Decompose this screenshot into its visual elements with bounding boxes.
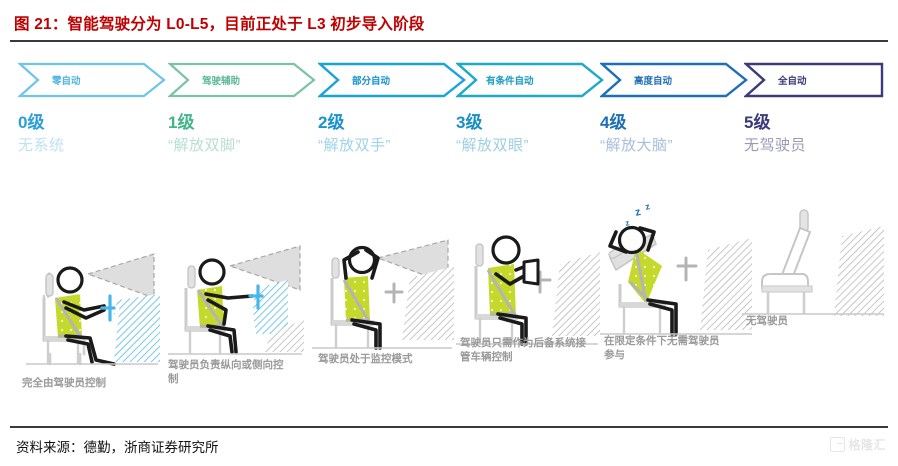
level-number-4: 4级 [600,113,673,133]
figure-caption-0: 完全由驾驶员控制 [22,376,154,390]
figure-empty-seat [738,206,888,331]
stage-chevron-0[interactable]: 零自动 [18,62,166,98]
level-number-1: 1级 [168,113,241,133]
figure-page: 图 21：智能驾驶分为 L0-L5，目前正处于 L3 初步导入阶段 零自动 驾驶… [0,0,898,466]
level-subtitle-1: “解放双脚” [168,135,241,157]
source-note: 资料来源：德勤，浙商证券研究所 [16,436,219,456]
stage-chevron-label-3: 有条件自动 [486,73,534,87]
level-number-5: 5级 [744,113,806,133]
level-subtitle-4: “解放大脑” [600,135,673,157]
stage-chevron-5[interactable]: 全自动 [744,62,884,98]
figure-caption-2: 驾驶员处于监控模式 [318,352,458,366]
stage-chevron-1[interactable]: 驾驶辅助 [168,62,316,98]
figure-driver-hands-behind-head [306,224,456,359]
watermark-text: 格隆汇 [848,436,886,453]
logo-mark-icon [830,437,845,452]
stage-level-4: 4级 “解放大脑” [600,113,673,157]
stage-chevron-label-5: 全自动 [778,73,807,87]
stage-level-3: 3级 “解放双眼” [456,113,529,157]
level-subtitle-2: “解放双手” [318,135,391,157]
stage-chevron-4[interactable]: 高度自动 [600,62,748,98]
stage-level-2: 2级 “解放双手” [318,113,391,157]
level-subtitle-0: 无系统 [18,135,65,157]
figure-driver-one-hand-wheel [166,232,306,362]
level-subtitle-5: 无驾驶员 [744,135,806,157]
level-number-3: 3级 [456,113,529,133]
stage-chevron-3[interactable]: 有条件自动 [456,62,604,98]
watermark: 格隆汇 [830,436,886,453]
page-title: 图 21：智能驾驶分为 L0-L5，目前正处于 L3 初步导入阶段 [14,12,425,34]
figure-caption-3: 驾驶员只需作为后备系统接管车辆控制 [460,336,588,364]
stage-level-5: 5级 无驾驶员 [744,113,806,157]
svg-text:z: z [634,206,643,219]
stage-chevron-label-4: 高度自动 [634,73,672,87]
stage-banner-row: 零自动 驾驶辅助 部分自动 有条件自动 [0,62,898,108]
stage-chevron-label-1: 驾驶辅助 [202,73,240,87]
stage-chevron-label-0: 零自动 [52,73,81,87]
header-divider [10,40,888,42]
level-number-0: 0级 [18,113,65,133]
figure-caption-5: 无驾驶员 [746,314,856,328]
figure-caption-1: 驾驶员负责纵向或侧向控制 [168,358,290,386]
level-subtitle-3: “解放双眼” [456,135,529,157]
stage-level-0: 0级 无系统 [18,113,65,157]
figure-driver-hands-on-wheel [22,236,162,371]
figure-driver-sleeping-reclined: z z z [596,200,756,350]
stage-level-1: 1级 “解放双脚” [168,113,241,157]
level-number-2: 2级 [318,113,391,133]
stage-chevron-label-2: 部分自动 [352,73,390,87]
footer-divider [10,426,888,428]
figure-caption-4: 在限定条件下无需驾驶员参与 [604,334,726,362]
figure-driver-reading-tablet [452,216,602,356]
svg-text:z: z [644,201,651,212]
stage-chevron-2[interactable]: 部分自动 [318,62,466,98]
